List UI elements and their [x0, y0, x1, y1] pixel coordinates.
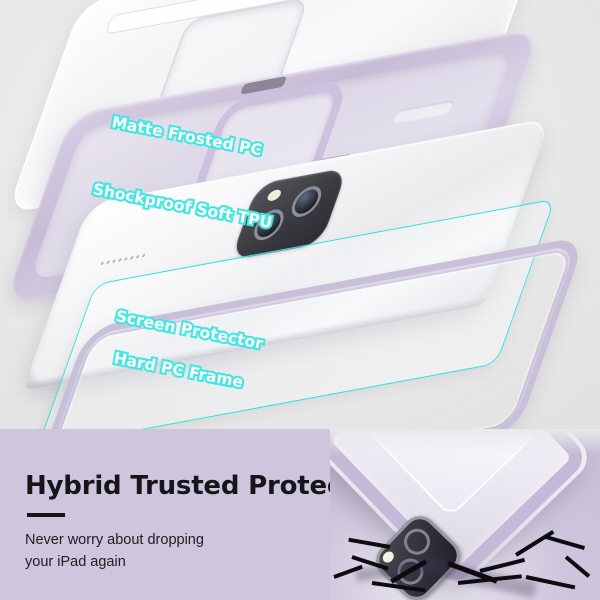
product-feature-page: Matte Frosted PC Shockproof Soft TPU Scr…	[0, 0, 600, 600]
camera-lens	[399, 523, 436, 560]
divider-rule	[27, 513, 65, 517]
feature-panel: Hybrid Trusted Protection Never worry ab…	[0, 429, 600, 600]
camera-lens	[287, 184, 325, 220]
feature-body-line-2: your iPad again	[25, 552, 325, 574]
feature-headline: Hybrid Trusted Protection	[25, 473, 325, 500]
drop-impact-photo	[330, 429, 600, 600]
speaker-grille	[100, 254, 145, 265]
photo-top-fade	[330, 429, 600, 455]
exploded-view-illustration: Matte Frosted PC Shockproof Soft TPU Scr…	[0, 0, 600, 429]
feature-copy-block: Hybrid Trusted Protection Never worry ab…	[25, 473, 325, 574]
feature-body-line-1: Never worry about dropping	[25, 530, 325, 552]
camera-flash-icon	[266, 189, 283, 202]
